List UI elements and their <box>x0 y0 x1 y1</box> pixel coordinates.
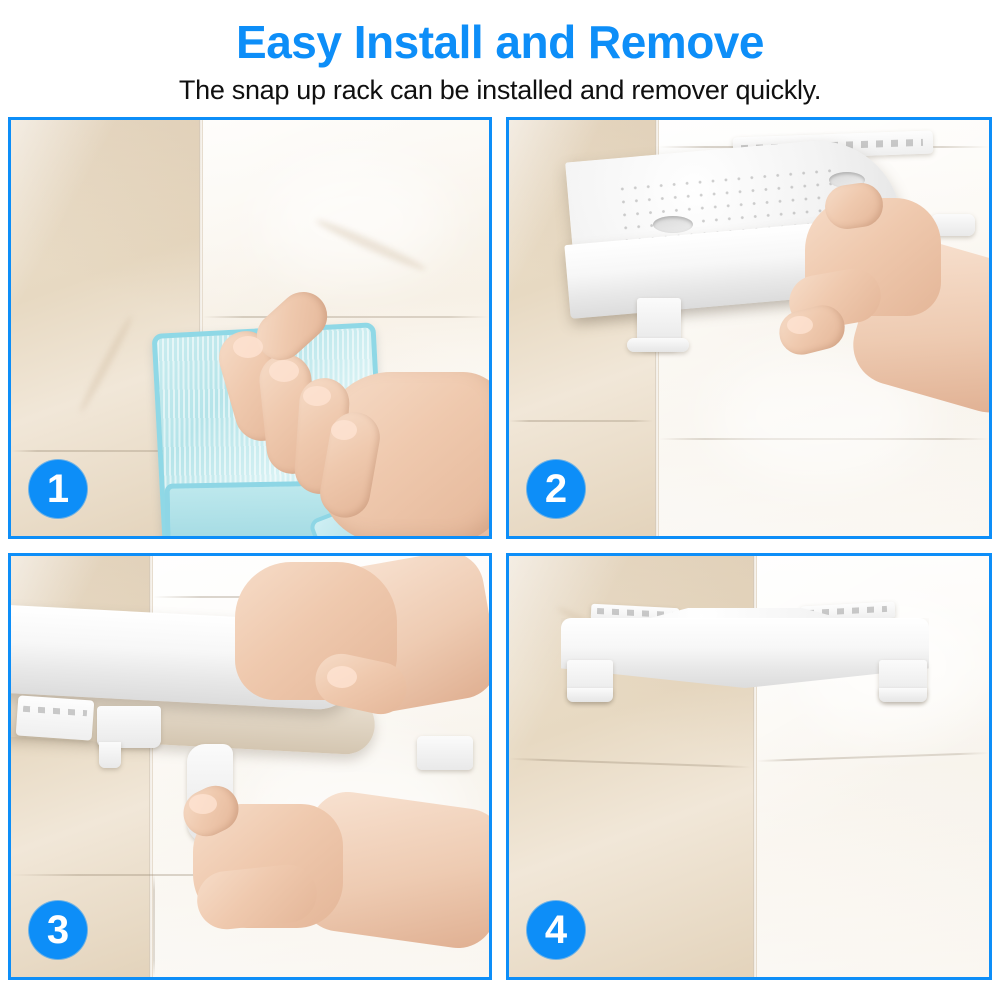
left-hook-tip <box>567 688 613 702</box>
grout-line-horizontal <box>509 420 653 422</box>
wall-sheen <box>261 160 451 280</box>
under-shelf-hook-base <box>627 338 689 352</box>
step-2-badge: 2 <box>527 460 585 518</box>
hand-holding-shelf <box>223 558 453 748</box>
step-1-badge: 1 <box>29 460 87 518</box>
fingernail <box>787 316 813 334</box>
hand-pressing-latch <box>187 782 487 972</box>
fingernail <box>331 420 357 440</box>
step-4-photo <box>509 556 989 977</box>
step-4-panel[interactable]: 4 <box>506 553 992 980</box>
grout-line-vertical <box>153 874 155 977</box>
step-1-panel[interactable]: 1 <box>8 117 492 539</box>
step-4-badge: 4 <box>527 901 585 959</box>
page-title: Easy Install and Remove <box>0 16 1000 68</box>
fingernail <box>233 336 263 358</box>
steps-grid: 1 <box>8 117 992 980</box>
hand-wiping <box>247 320 489 536</box>
infographic-page: Easy Install and Remove The snap up rack… <box>0 0 1000 1000</box>
fingernail <box>189 794 217 814</box>
page-subtitle: The snap up rack can be installed and re… <box>0 74 1000 106</box>
fingernail <box>303 386 331 406</box>
step-2-panel[interactable]: 2 <box>506 117 992 539</box>
left-hook-tip <box>99 742 121 768</box>
fingernail <box>269 360 299 382</box>
step-3-badge: 3 <box>29 901 87 959</box>
grout-line-horizontal <box>203 316 489 318</box>
right-hook-tip <box>879 688 927 702</box>
fingernail <box>327 666 357 688</box>
hand-installing-shelf <box>767 198 989 428</box>
drain-hole <box>653 216 693 233</box>
wall-mounting-plate <box>16 695 95 740</box>
step-3-panel[interactable]: 3 <box>8 553 492 980</box>
header: Easy Install and Remove The snap up rack… <box>0 0 1000 115</box>
